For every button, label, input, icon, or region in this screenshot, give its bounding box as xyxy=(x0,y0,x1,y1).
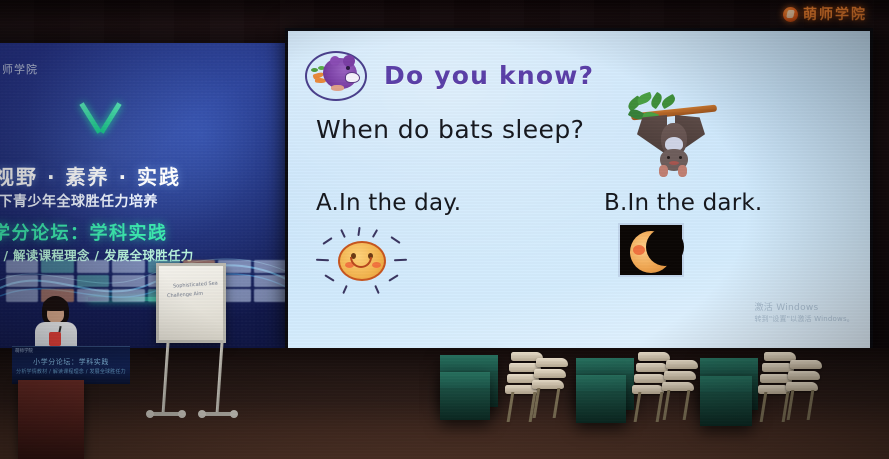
stacked-chairs xyxy=(660,360,694,424)
led-corner-tag: 师学院 xyxy=(2,61,38,77)
led-forum-title: 学分论坛：学科实践 xyxy=(0,219,288,245)
leaf-icon xyxy=(660,94,677,109)
bat-eye xyxy=(667,156,670,159)
smiling-sun-icon xyxy=(314,227,408,297)
whiteboard-wheel xyxy=(198,410,206,418)
whiteboard-text-line-1: Sophisticated Sea xyxy=(173,280,218,289)
brand-badge-icon xyxy=(783,7,798,22)
whiteboard: Sophisticated Sea Challenge Aim xyxy=(156,263,226,343)
sponsor-logo xyxy=(254,289,286,302)
option-b-label: B.In the dark. xyxy=(604,190,762,216)
moon-shadow xyxy=(646,228,684,266)
bat-foot xyxy=(659,165,668,177)
podium xyxy=(18,380,84,459)
bat-mouth xyxy=(669,161,679,165)
sponsor-logo xyxy=(77,289,109,302)
moon-crater xyxy=(633,245,645,255)
mascot-snout xyxy=(345,72,360,83)
mascot-foot xyxy=(331,85,344,91)
podium-signage: 萌师学院 小学分论坛：学科实践 分析学情教材 / 解读课程理念 / 发展全球胜任… xyxy=(12,346,130,384)
slide-title: Do you know? xyxy=(384,61,594,90)
sponsor-logo xyxy=(254,275,286,288)
stacked-chairs xyxy=(530,358,564,422)
mascot-ear xyxy=(330,56,340,66)
podium-sign-line-2: 分析学情教材 / 解读课程理念 / 发展全球胜任力 xyxy=(12,368,130,375)
sponsor-logo xyxy=(77,275,109,288)
brand-logo-text: 萌师学院 xyxy=(803,4,867,24)
whiteboard-wheel xyxy=(230,410,238,418)
crescent-moon-icon xyxy=(618,223,684,277)
stacked-chairs xyxy=(784,360,818,424)
presentation-slide: Do you know? When do bats sleep? A.In th… xyxy=(288,31,870,348)
sponsor-logo xyxy=(112,289,144,302)
conference-table xyxy=(440,372,490,420)
sponsor-logo xyxy=(254,260,286,273)
podium-sign-line-1: 小学分论坛：学科实践 xyxy=(12,357,130,367)
presenter-fringe xyxy=(43,298,68,311)
option-a-label: A.In the day. xyxy=(316,190,461,216)
conference-table xyxy=(576,375,626,423)
watermark-line-1: 激活 Windows xyxy=(754,300,854,313)
podium-brand: 萌师学院 xyxy=(15,348,33,354)
mascot-ear xyxy=(343,55,355,67)
screenshot-root: 萌师学院 师学院 视野 · 素养 · 实践 野下青少年全球胜任力培养 学分论坛：… xyxy=(0,0,889,459)
sponsor-logo xyxy=(112,275,144,288)
led-subheadline: 野下青少年全球胜任力培养 xyxy=(0,191,288,211)
purple-mouse-mascot-icon xyxy=(305,51,367,101)
sponsor-logo xyxy=(41,275,73,288)
sponsor-logo xyxy=(6,260,38,273)
presenter-badge xyxy=(49,332,61,346)
led-headline: 视野 · 素养 · 实践 xyxy=(0,161,288,190)
sponsor-logo xyxy=(112,260,144,273)
sponsor-logo xyxy=(41,260,73,273)
whiteboard-text-line-2: Challenge Aim xyxy=(167,291,204,300)
up-chevron-icon xyxy=(78,101,124,133)
windows-activation-watermark: 激活 Windows 转到"设置"以激活 Windows。 xyxy=(754,300,854,324)
watermark-line-2: 转到"设置"以激活 Windows。 xyxy=(754,314,854,324)
mascot-eye xyxy=(346,66,350,70)
bat-eye xyxy=(679,156,682,159)
brand-logo: 萌师学院 xyxy=(783,4,867,24)
whiteboard-wheel xyxy=(178,410,186,418)
bat-foot xyxy=(678,165,687,177)
slide-question: When do bats sleep? xyxy=(316,115,584,144)
bat-hanging-on-branch-icon xyxy=(621,93,719,183)
sponsor-logo xyxy=(6,275,38,288)
whiteboard-wheel xyxy=(146,410,154,418)
conference-table xyxy=(700,376,752,426)
sponsor-logo xyxy=(77,260,109,273)
